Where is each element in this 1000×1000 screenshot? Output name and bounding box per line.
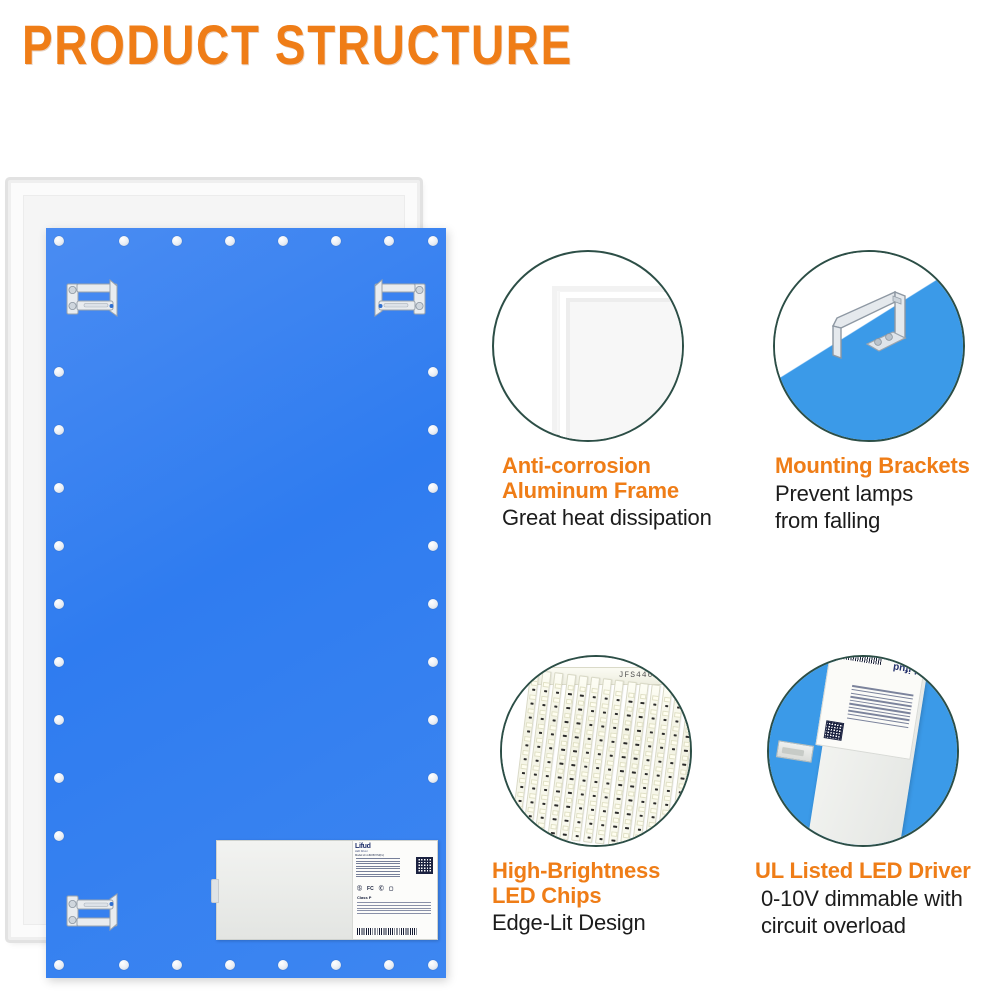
- led-chip-icon: [652, 794, 659, 800]
- led-strip-field: JFS4403F: [502, 657, 690, 845]
- led-chip-icon: [619, 762, 626, 768]
- ul-mark-icon: Ⓢ: [357, 885, 362, 892]
- led-strip-group: [511, 669, 692, 847]
- screw-left: [54, 599, 64, 609]
- certification-marks: Ⓢ FC Ⓒ ▢: [357, 885, 393, 892]
- resistor-icon: [636, 744, 640, 747]
- resistor-icon: [641, 702, 645, 705]
- resistor-icon: [625, 728, 629, 731]
- led-chip-icon: [635, 735, 642, 741]
- screw-corner-br: [428, 960, 438, 970]
- resistor-icon: [661, 733, 665, 736]
- screw-right: [428, 483, 438, 493]
- resistor-icon: [530, 702, 534, 705]
- driver-housing: [217, 841, 353, 939]
- page-title: PRODUCT STRUCTURE: [22, 16, 573, 75]
- resistor-icon: [632, 771, 636, 774]
- resistor-icon: [546, 775, 550, 778]
- resistor-icon: [637, 730, 641, 733]
- led-chip-icon: [560, 740, 567, 746]
- screw-right: [428, 715, 438, 725]
- resistor-icon: [653, 703, 657, 706]
- resistor-icon: [670, 762, 674, 765]
- led-chip-icon: [574, 827, 581, 833]
- led-chip-icon: [674, 811, 681, 817]
- resistor-icon: [589, 724, 593, 727]
- led-chip-icon: [550, 725, 557, 731]
- led-chip-icon: [541, 795, 548, 801]
- led-chip-icon: [538, 724, 545, 730]
- resistor-icon: [629, 700, 633, 703]
- led-chip-icon: [640, 694, 647, 700]
- led-chip-icon: [578, 799, 585, 805]
- led-chip-icon: [593, 773, 600, 779]
- resistor-icon: [604, 697, 608, 700]
- led-chip-icon: [633, 749, 640, 755]
- frame-corner-shape: [560, 292, 684, 442]
- resistor-icon: [665, 804, 669, 807]
- led-chip-icon: [543, 682, 550, 688]
- resistor-icon: [587, 738, 591, 741]
- led-chip-icon: [552, 711, 559, 717]
- resistor-icon: [603, 810, 607, 813]
- resistor-icon: [530, 801, 534, 804]
- led-chip-icon: [661, 823, 668, 829]
- resistor-icon: [627, 813, 631, 816]
- resistor-icon: [591, 809, 595, 812]
- led-chip-icon: [621, 748, 628, 754]
- resistor-icon: [521, 772, 525, 775]
- resistor-icon: [610, 755, 614, 758]
- led-chip-icon: [571, 756, 578, 762]
- led-chip-icon: [610, 733, 617, 739]
- resistor-icon: [591, 710, 595, 713]
- screw-left: [54, 773, 64, 783]
- resistor-icon: [677, 706, 681, 709]
- resistor-icon: [604, 796, 608, 799]
- led-chip-icon: [607, 760, 614, 766]
- led-chip-icon: [628, 791, 635, 797]
- led-chip-icon: [611, 831, 618, 837]
- screw-corner-tl: [54, 236, 64, 246]
- resistor-icon: [542, 803, 546, 806]
- resistor-icon: [582, 779, 586, 782]
- feature-caption: UL Listed LED Driver 0-10V dimmable with…: [735, 859, 1000, 939]
- screw-right: [428, 599, 438, 609]
- led-chip-icon: [664, 796, 671, 802]
- resistor-icon: [660, 747, 664, 750]
- led-chip-icon: [659, 738, 666, 744]
- resistor-icon: [667, 790, 671, 793]
- led-chip-icon: [636, 722, 643, 728]
- led-chip-icon: [531, 779, 538, 785]
- led-chip-icon: [545, 767, 552, 773]
- resistor-icon: [615, 713, 619, 716]
- resistor-icon: [568, 792, 572, 795]
- resistor-icon: [580, 694, 584, 697]
- resistor-icon: [528, 815, 532, 818]
- feature-desc-line1: 0-10V dimmable with: [755, 886, 1000, 912]
- led-chip-icon: [664, 697, 671, 703]
- resistor-icon: [618, 784, 622, 787]
- resistor-icon: [568, 693, 572, 696]
- resistor-icon: [542, 704, 546, 707]
- led-chip-icon: [553, 796, 560, 802]
- screw-corner-bl: [54, 960, 64, 970]
- led-chip-icon: [565, 699, 572, 705]
- mounting-bracket-top-left: [64, 270, 126, 332]
- led-chip-icon: [612, 719, 619, 725]
- led-chip-icon: [539, 710, 546, 716]
- resistor-icon: [549, 747, 553, 750]
- resistor-icon: [534, 773, 538, 776]
- resistor-icon: [611, 839, 615, 842]
- led-chip-icon: [673, 726, 680, 732]
- led-chip-icon: [602, 802, 609, 808]
- feature-desc-line1: Edge-Lit Design: [492, 910, 735, 936]
- screw-top: [384, 236, 394, 246]
- resistor-icon: [579, 807, 583, 810]
- resistor-icon: [627, 714, 631, 717]
- resistor-icon: [629, 799, 633, 802]
- feature-caption: High-Brightness LED Chips Edge-Lit Desig…: [470, 859, 735, 936]
- driver-brand-text: Lifud: [892, 661, 918, 676]
- led-chip-icon: [645, 751, 652, 757]
- resistor-icon: [656, 774, 660, 777]
- led-chip-icon: [519, 778, 526, 784]
- resistor-icon: [653, 802, 657, 805]
- led-chip-icon: [534, 751, 541, 757]
- resistor-icon: [624, 841, 628, 844]
- led-chip-icon: [598, 731, 605, 737]
- resistor-icon: [563, 833, 567, 836]
- led-chip-icon: [640, 793, 647, 799]
- feature-anti-corrosion-aluminum-frame: Anti-corrosion Aluminum Frame Great heat…: [470, 250, 735, 531]
- resistor-icon: [554, 804, 558, 807]
- led-chip-icon: [624, 720, 631, 726]
- led-chip-icon: [588, 814, 595, 820]
- panel-led-driver: Lifud LED Driver Model:LF-GIN050YM(Fx) Ⓢ…: [216, 840, 438, 940]
- resistor-icon: [597, 753, 601, 756]
- led-chip-icon: [676, 797, 683, 803]
- led-chip-icon: [636, 820, 643, 826]
- led-chip-icon: [602, 703, 609, 709]
- screw-bottom: [172, 960, 182, 970]
- led-chip-icon: [666, 782, 673, 788]
- led-chip-icon: [529, 694, 536, 700]
- barcode-icon: [357, 928, 417, 935]
- led-chip-icon: [586, 730, 593, 736]
- resistor-icon: [570, 778, 574, 781]
- led-chip-icon: [548, 739, 555, 745]
- led-chip-icon: [600, 717, 607, 723]
- led-chip-icon: [553, 697, 560, 703]
- led-chip-icon: [647, 836, 654, 842]
- led-chip-icon: [566, 798, 573, 804]
- led-chip-icon: [605, 774, 612, 780]
- resistor-icon: [675, 819, 679, 822]
- led-chip-icon: [662, 809, 669, 815]
- led-chip-icon: [543, 781, 550, 787]
- led-chip-icon: [567, 685, 574, 691]
- resistor-icon: [615, 812, 619, 815]
- resistor-icon: [559, 762, 563, 765]
- resistor-icon: [535, 760, 539, 763]
- resistor-icon: [620, 770, 624, 773]
- resistor-icon: [637, 828, 641, 831]
- led-chip-icon: [674, 712, 681, 718]
- feature-high-brightness-led-chips: JFS4403F High-Brightness LED Chips Edge-…: [470, 655, 735, 936]
- led-chip-icon: [579, 785, 586, 791]
- resistor-icon: [589, 823, 593, 826]
- led-chip-icon: [557, 768, 564, 774]
- resistor-icon: [516, 814, 520, 817]
- resistor-icon: [599, 838, 603, 841]
- resistor-icon: [679, 791, 683, 794]
- led-chip-icon: [604, 788, 611, 794]
- ce-mark-icon: Ⓒ: [379, 885, 384, 892]
- led-chip-icon: [650, 709, 657, 715]
- led-chip-icon: [673, 825, 680, 831]
- led-chip-icon: [581, 771, 588, 777]
- resistor-icon: [655, 788, 659, 791]
- screw-right: [428, 773, 438, 783]
- resistor-icon: [592, 795, 596, 798]
- resistor-icon: [639, 716, 643, 719]
- resistor-icon: [553, 818, 557, 821]
- driver-connector-tab: [211, 879, 219, 903]
- resistor-icon: [599, 739, 603, 742]
- resistor-icon: [558, 776, 562, 779]
- resistor-icon: [630, 785, 634, 788]
- led-chip-icon: [529, 793, 536, 799]
- product-structure-infographic: PRODUCT STRUCTURE: [0, 0, 1000, 1000]
- resistor-icon: [665, 705, 669, 708]
- resistor-icon: [596, 767, 600, 770]
- driver-spec-lines: [356, 858, 400, 879]
- led-chip-icon: [541, 696, 548, 702]
- feature-desc-line1: Prevent lamps: [775, 481, 1000, 507]
- resistor-icon: [587, 836, 591, 839]
- led-chip-icon: [527, 807, 534, 813]
- screw-bottom: [119, 960, 129, 970]
- led-chip-icon: [622, 734, 629, 740]
- led-chip-icon: [540, 808, 547, 814]
- led-chip-icon: [555, 683, 562, 689]
- led-chip-icon: [597, 745, 604, 751]
- led-chip-icon: [685, 728, 692, 734]
- led-chip-icon: [526, 821, 533, 827]
- led-chip-icon: [662, 711, 669, 717]
- resistor-icon: [616, 699, 620, 702]
- driver-footer-lines: [357, 902, 431, 916]
- screw-top: [225, 236, 235, 246]
- led-chip-icon: [686, 714, 692, 720]
- led-chip-icon: [576, 813, 583, 819]
- led-chip-icon: [669, 754, 676, 760]
- led-chip-icon: [624, 819, 631, 825]
- led-chip-icon: [660, 725, 667, 731]
- led-chip-icon: [614, 705, 621, 711]
- screw-left: [54, 657, 64, 667]
- led-chip-icon: [680, 769, 687, 775]
- resistor-icon: [547, 761, 551, 764]
- led-chip-icon: [688, 700, 692, 706]
- feature-desc-line2: circuit overload: [755, 913, 1000, 939]
- led-driver-label-photo: Lifud: [767, 655, 959, 847]
- led-chip-icon: [671, 839, 678, 845]
- resistor-icon: [649, 731, 653, 734]
- led-chip-icon: [667, 768, 674, 774]
- led-chip-icon: [552, 810, 559, 816]
- screw-left: [54, 541, 64, 551]
- resistor-icon: [575, 736, 579, 739]
- mounting-bracket-top-right: [366, 270, 428, 332]
- led-chip-icon: [652, 695, 659, 701]
- led-chip-icon: [572, 742, 579, 748]
- resistor-icon: [539, 830, 543, 833]
- feature-caption: Anti-corrosion Aluminum Frame Great heat…: [470, 454, 735, 531]
- resistor-icon: [566, 806, 570, 809]
- resistor-icon: [682, 763, 686, 766]
- resistor-icon: [518, 800, 522, 803]
- led-chip-icon: [683, 741, 690, 747]
- led-chip-icon: [678, 783, 685, 789]
- led-chip-icon: [522, 750, 529, 756]
- resistor-icon: [606, 782, 610, 785]
- resistor-icon: [675, 720, 679, 723]
- front-blue-panel: Lifud LED Driver Model:LF-GIN050YM(Fx) Ⓢ…: [46, 228, 446, 978]
- driver-class-text: Class P: [357, 895, 371, 900]
- resistor-icon: [689, 708, 692, 711]
- led-chip-icon: [564, 713, 571, 719]
- feature-title-line1: UL Listed LED Driver: [755, 859, 1000, 884]
- resistor-icon: [541, 817, 545, 820]
- led-chip-icon: [600, 816, 607, 822]
- aluminum-frame-corner-photo: [492, 250, 684, 442]
- led-chip-icon: [609, 746, 616, 752]
- driver-spec-lines: [847, 683, 914, 728]
- led-chip-icon: [559, 754, 566, 760]
- resistor-icon: [611, 741, 615, 744]
- resistor-icon: [641, 801, 645, 804]
- screw-top: [278, 236, 288, 246]
- resistor-icon: [594, 781, 598, 784]
- screw-top: [172, 236, 182, 246]
- led-chip-icon: [576, 714, 583, 720]
- resistor-icon: [613, 727, 617, 730]
- feature-grid: Anti-corrosion Aluminum Frame Great heat…: [470, 250, 1000, 990]
- led-chip-icon: [649, 822, 656, 828]
- resistor-icon: [668, 776, 672, 779]
- led-chip-icon: [617, 776, 624, 782]
- resistor-icon: [525, 744, 529, 747]
- resistor-icon: [575, 835, 579, 838]
- resistor-icon: [528, 716, 532, 719]
- led-chip-icon: [598, 830, 605, 836]
- resistor-icon: [551, 832, 555, 835]
- led-chip-icon: [577, 700, 584, 706]
- feature-title-line1: Anti-corrosion: [502, 454, 735, 479]
- feature-title-line1: Mounting Brackets: [775, 454, 1000, 479]
- led-chip-icon: [567, 784, 574, 790]
- resistor-icon: [650, 830, 654, 833]
- screw-right: [428, 367, 438, 377]
- resistor-icon: [577, 821, 581, 824]
- resistor-icon: [663, 719, 667, 722]
- resistor-icon: [565, 820, 569, 823]
- resistor-icon: [674, 833, 678, 836]
- resistor-icon: [544, 690, 548, 693]
- driver-subtitle-text: LED Driver: [355, 850, 435, 853]
- resistor-icon: [565, 721, 569, 724]
- driver-brand-text: Lifud: [355, 843, 435, 850]
- screw-left: [54, 425, 64, 435]
- led-chip-icon: [628, 692, 635, 698]
- barcode-icon: [835, 655, 882, 665]
- resistor-icon: [601, 824, 605, 827]
- led-chip-icon: [586, 828, 593, 834]
- resistor-icon: [613, 826, 617, 829]
- led-chip-icon: [574, 728, 581, 734]
- led-chip-icon: [555, 782, 562, 788]
- resistor-icon: [556, 692, 560, 695]
- led-chip-icon: [676, 698, 683, 704]
- led-chip-icon: [638, 806, 645, 812]
- led-chip-icon: [520, 764, 527, 770]
- resistor-icon: [577, 722, 581, 725]
- led-chip-icon: [647, 737, 654, 743]
- resistor-icon: [584, 765, 588, 768]
- screw-left: [54, 715, 64, 725]
- resistor-icon: [651, 816, 655, 819]
- resistor-icon: [648, 844, 652, 847]
- resistor-icon: [677, 805, 681, 808]
- resistor-icon: [592, 696, 596, 699]
- led-chip-icon: [564, 811, 571, 817]
- resistor-icon: [601, 725, 605, 728]
- led-chip-icon: [595, 759, 602, 765]
- fc-mark-icon: FC: [367, 886, 374, 892]
- resistor-icon: [561, 749, 565, 752]
- resistor-icon: [551, 733, 555, 736]
- led-chip-icon: [681, 755, 688, 761]
- resistor-icon: [563, 735, 567, 738]
- resistor-icon: [552, 719, 556, 722]
- resistor-icon: [608, 768, 612, 771]
- led-chip-icon: [626, 805, 633, 811]
- resistor-icon: [674, 734, 678, 737]
- led-chip-icon: [615, 691, 622, 697]
- mounting-bracket-photo: [773, 250, 965, 442]
- resistor-icon: [520, 786, 524, 789]
- screw-bottom: [278, 960, 288, 970]
- led-chip-icon: [588, 716, 595, 722]
- led-chip-icon: [642, 779, 649, 785]
- led-chip-icon: [533, 765, 540, 771]
- resistor-icon: [527, 730, 531, 733]
- led-chip-icon: [517, 792, 524, 798]
- screw-left: [54, 367, 64, 377]
- resistor-icon: [660, 845, 664, 847]
- led-chip-icon: [531, 680, 538, 686]
- led-chip-icon: [562, 825, 569, 831]
- resistor-icon: [540, 718, 544, 721]
- screw-top: [331, 236, 341, 246]
- screw-bottom: [225, 960, 235, 970]
- screw-right: [428, 425, 438, 435]
- resistor-icon: [523, 758, 527, 761]
